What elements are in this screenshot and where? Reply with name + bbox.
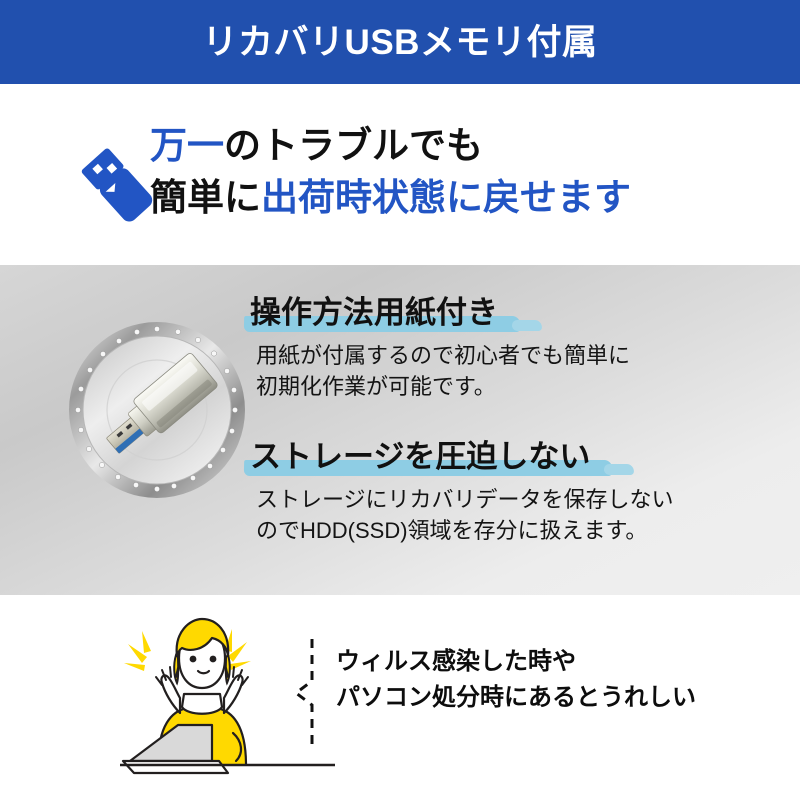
banner-title: リカバリUSBメモリ付属: [203, 25, 598, 60]
feature-2-body: ストレージにリカバリデータを保存しない のでHDD(SSD)領域を存分に扱えます…: [256, 484, 788, 546]
hero-line-1-rest: のトラブルでも: [224, 125, 483, 166]
hero-line-1-highlight: 万一: [150, 125, 224, 166]
hero-line-2-highlight: 出荷時状態に戻せます: [261, 177, 631, 218]
feature-1-body-line-2: 初期化作業が可能です。: [256, 371, 788, 402]
hero-headline: 万一のトラブルでも 簡単に出荷時状態に戻せます: [150, 120, 790, 224]
feature-1-body: 用紙が付属するので初心者でも簡単に 初期化作業が可能です。: [256, 340, 788, 402]
hero-line-2: 簡単に出荷時状態に戻せます: [150, 172, 790, 224]
feature-2-body-line-1: ストレージにリカバリデータを保存しない: [256, 484, 788, 515]
bottom-note: ウィルス感染した時や パソコン処分時にあるとうれしい: [336, 644, 796, 716]
feature-2-body-line-2: のでHDD(SSD)領域を存分に扱えます。: [256, 515, 788, 546]
promo-page: リカバリUSBメモリ付属 万一のトラブルでも 簡単に出荷時状態に戻せます: [0, 0, 800, 800]
features-section: 操作方法用紙付き 用紙が付属するので初心者でも簡単に 初期化作業が可能です。 ス…: [0, 265, 800, 595]
hero-line-1: 万一のトラブルでも: [150, 120, 790, 172]
feature-2-heading-text: ストレージを圧迫しない: [250, 439, 590, 474]
bottom-note-line-2: パソコン処分時にあるとうれしい: [336, 680, 796, 716]
hero-section: 万一のトラブルでも 簡単に出荷時状態に戻せます: [0, 84, 800, 265]
feature-item-2: ストレージを圧迫しない ストレージにリカバリデータを保存しない のでHDD(SS…: [248, 437, 788, 546]
feature-1-heading: 操作方法用紙付き: [248, 293, 502, 333]
feature-1-body-line-1: 用紙が付属するので初心者でも簡単に: [256, 340, 788, 371]
feature-item-1: 操作方法用紙付き 用紙が付属するので初心者でも簡単に 初期化作業が可能です。: [248, 293, 788, 402]
bottom-section: ウィルス感染した時や パソコン処分時にあるとうれしい: [0, 595, 800, 800]
feature-1-heading-text: 操作方法用紙付き: [250, 295, 498, 330]
feature-2-heading: ストレージを圧迫しない: [248, 437, 594, 477]
bottom-note-line-1: ウィルス感染した時や: [336, 644, 796, 680]
hero-line-2-lead: 簡単に: [150, 177, 261, 218]
usb-memory-product-photo: [62, 315, 252, 505]
header-banner: リカバリUSBメモリ付属: [0, 0, 800, 84]
dashed-bracket-icon: [292, 637, 332, 749]
